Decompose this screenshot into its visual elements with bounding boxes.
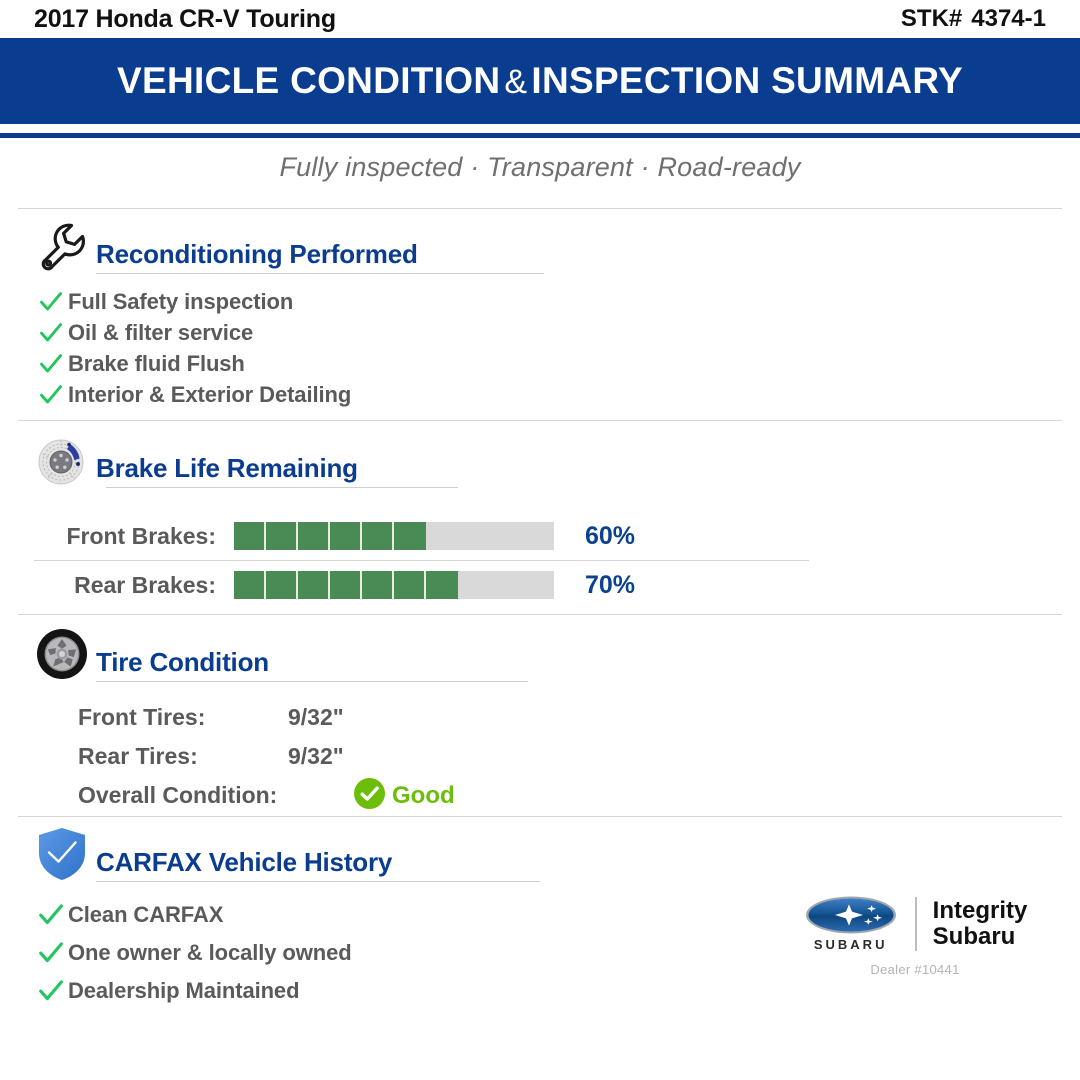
list-item-label: Interior & Exterior Detailing (68, 382, 351, 408)
brakes-underline (106, 487, 458, 488)
brake-rear-bar-fill (234, 571, 458, 599)
list-item: Full Safety inspection (34, 286, 418, 317)
subaru-wordmark: SUBARU (814, 937, 888, 952)
brakes-header: Brake Life Remaining (34, 432, 809, 488)
subaru-logo: SUBARU (803, 895, 899, 952)
carfax-underline (96, 881, 540, 882)
check-icon (34, 901, 68, 929)
brakes-title: Brake Life Remaining (96, 453, 358, 488)
check-icon (34, 977, 68, 1005)
divider-tires-carfax (18, 816, 1062, 817)
list-item: Interior & Exterior Detailing (34, 379, 418, 410)
subaru-star-oval-icon (805, 895, 897, 935)
bar-segment (266, 571, 298, 599)
check-icon (34, 382, 68, 408)
divider-brakes-tires (18, 614, 1062, 615)
bar-segment (298, 522, 330, 550)
tire-row-rear: Rear Tires: 9/32" (78, 737, 455, 776)
list-item: Clean CARFAX (34, 896, 392, 934)
bar-segment (426, 571, 458, 599)
vehicle-title: 2017 Honda CR-V Touring (34, 7, 336, 32)
list-item-label: Clean CARFAX (68, 902, 223, 928)
main-banner: VEHICLE CONDITION&INSPECTION SUMMARY (0, 38, 1080, 124)
list-item-label: One owner & locally owned (68, 940, 352, 966)
tire-front-label: Front Tires: (78, 704, 288, 731)
banner-ampersand: & (500, 63, 531, 101)
divider-top (18, 208, 1062, 209)
list-item: Brake fluid Flush (34, 348, 418, 379)
tire-rear-value: 9/32" (288, 743, 344, 770)
brake-front-label: Front Brakes: (34, 523, 234, 550)
bar-segment (362, 522, 394, 550)
section-tires: Tire Condition Front Tires: 9/32" Rear T… (34, 626, 455, 815)
list-item: Oil & filter service (34, 317, 418, 348)
dealer-name-line1: Integrity (933, 898, 1028, 924)
check-icon (34, 289, 68, 315)
tires-details: Front Tires: 9/32" Rear Tires: 9/32" Ove… (34, 698, 455, 815)
brake-front-bar (234, 522, 554, 550)
bar-segment (330, 522, 362, 550)
dealer-divider (915, 897, 917, 951)
brake-rear-label: Rear Brakes: (34, 572, 234, 599)
carfax-header: CARFAX Vehicle History (34, 826, 392, 882)
dealer-number: Dealer #10441 (870, 962, 959, 977)
banner-accent-rule (0, 133, 1080, 138)
banner-heading-left: VEHICLE CONDITION (117, 60, 500, 101)
bar-segment (362, 571, 394, 599)
list-item: One owner & locally owned (34, 934, 392, 972)
tire-row-overall: Overall Condition: Good (78, 776, 455, 815)
check-icon (34, 351, 68, 377)
stock-number-block: STK#4374-1 (901, 7, 1046, 31)
list-item-label: Full Safety inspection (68, 289, 293, 315)
stock-label: STK# (901, 5, 962, 32)
banner-heading: VEHICLE CONDITION&INSPECTION SUMMARY (117, 60, 963, 102)
tires-header: Tire Condition (34, 626, 455, 682)
bar-segment (298, 571, 330, 599)
brakes-table: Front Brakes: 60% Rear Brakes: 70% (34, 512, 809, 609)
bar-segment (394, 571, 426, 599)
check-circle-icon (354, 778, 385, 814)
brake-front-percent: 60% (554, 522, 666, 551)
status-badge: Good (354, 778, 455, 814)
bar-segment (234, 571, 266, 599)
check-icon (34, 939, 68, 967)
tires-title: Tire Condition (96, 647, 269, 682)
brake-row-rear: Rear Brakes: 70% (34, 561, 809, 609)
bar-segment (394, 522, 426, 550)
divider-reconditioning-brakes (18, 420, 1062, 421)
list-item-label: Oil & filter service (68, 320, 253, 346)
brake-front-bar-fill (234, 522, 426, 550)
list-item-label: Brake fluid Flush (68, 351, 245, 377)
list-item: Dealership Maintained (34, 972, 392, 1010)
brake-rotor-icon (34, 432, 90, 488)
reconditioning-title: Reconditioning Performed (96, 239, 418, 274)
brake-rear-percent: 70% (554, 571, 666, 600)
stock-number: 4374-1 (971, 5, 1046, 32)
reconditioning-header: Reconditioning Performed (34, 218, 418, 274)
tire-rear-label: Rear Tires: (78, 743, 288, 770)
wrench-icon (34, 218, 90, 274)
reconditioning-underline (96, 273, 544, 274)
tire-row-front: Front Tires: 9/32" (78, 698, 455, 737)
section-brakes: Brake Life Remaining Front Brakes: 60% R… (34, 432, 809, 609)
section-carfax: CARFAX Vehicle History Clean CARFAX One … (34, 826, 392, 1010)
inspection-summary-page: 2017 Honda CR-V Touring STK#4374-1 VEHIC… (0, 0, 1080, 1080)
list-item-label: Dealership Maintained (68, 978, 299, 1004)
dealer-name: Integrity Subaru (933, 898, 1028, 950)
dealer-name-line2: Subaru (933, 924, 1028, 950)
brake-rear-bar (234, 571, 554, 599)
bar-segment (234, 522, 266, 550)
reconditioning-list: Full Safety inspection Oil & filter serv… (34, 286, 418, 410)
tire-overall-label: Overall Condition: (78, 782, 354, 809)
dealer-logo-row: SUBARU Integrity Subaru (803, 895, 1028, 952)
tires-underline (96, 681, 528, 682)
bar-segment (330, 571, 362, 599)
top-bar: 2017 Honda CR-V Touring STK#4374-1 (0, 0, 1080, 38)
carfax-title: CARFAX Vehicle History (96, 847, 392, 882)
tire-icon (34, 626, 90, 682)
section-reconditioning: Reconditioning Performed Full Safety ins… (34, 218, 418, 410)
shield-check-icon (34, 826, 90, 882)
carfax-list: Clean CARFAX One owner & locally owned D… (34, 896, 392, 1010)
dealer-branding: SUBARU Integrity Subaru Dealer #10441 (770, 895, 1060, 977)
brake-row-front: Front Brakes: 60% (34, 512, 809, 560)
banner-heading-right: INSPECTION SUMMARY (531, 60, 963, 101)
tire-overall-value: Good (392, 782, 455, 810)
tagline: Fully inspected · Transparent · Road-rea… (0, 152, 1080, 183)
tire-front-value: 9/32" (288, 704, 344, 731)
bar-segment (266, 522, 298, 550)
check-icon (34, 320, 68, 346)
